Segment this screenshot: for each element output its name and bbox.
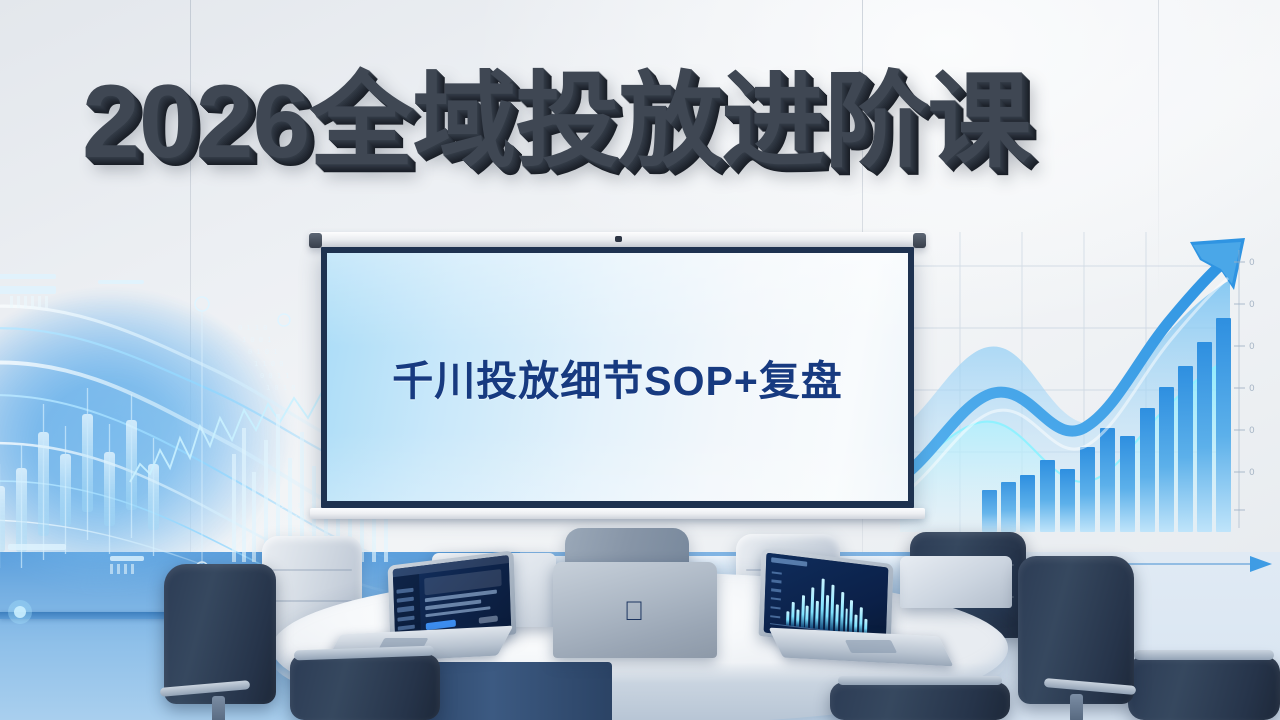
svg-text:1 0 0 1: 1 0 0 1	[242, 336, 272, 344]
svg-text:0: 0	[1249, 468, 1255, 478]
svg-text:0: 0	[1249, 300, 1255, 310]
projector-screen-frame: 千川投放细节SOP+复盘	[321, 247, 914, 508]
chair-far-right-navy	[1010, 556, 1142, 720]
svg-text:0: 0	[1249, 342, 1255, 352]
svg-text:1 0 1: 1 0 1	[280, 502, 301, 510]
svg-text:0 1 0 1: 0 1 0 1	[248, 348, 278, 356]
svg-text:1 0 1 0: 1 0 1 0	[266, 384, 296, 392]
chair-left-front-navy	[290, 644, 450, 720]
laptop-center-macbook[interactable]: 	[553, 562, 717, 670]
svg-text:0 1 1 0: 0 1 1 0	[238, 324, 268, 332]
dashboard-secondary-button[interactable]	[478, 616, 498, 624]
analytics-title-bar	[771, 557, 808, 566]
chair-bottom-center-navy	[830, 676, 1010, 720]
projector-screen-bottom-bar	[310, 508, 925, 519]
svg-text:0: 0	[1249, 384, 1255, 394]
chair-far-left-navy	[160, 564, 284, 720]
screen-mount-dot	[615, 236, 622, 242]
svg-text:0: 0	[1249, 426, 1255, 436]
page-title: 2026全域投放进阶课	[82, 66, 1202, 178]
svg-text:1 1 0: 1 1 0	[292, 526, 313, 534]
svg-text:0: 0	[1249, 258, 1255, 268]
svg-text:1 1 0 0: 1 1 0 0	[254, 360, 284, 368]
svg-text:0 1 0: 0 1 0	[286, 514, 307, 522]
poster-canvas: 0 1 1 01 0 0 1 0 1 0 11 1 0 0 0 0 1 11 0…	[0, 0, 1280, 720]
svg-text:0 0 1 1: 0 0 1 1	[260, 372, 290, 380]
chair-right-rear-navy	[1128, 648, 1280, 720]
projector-screen[interactable]: 千川投放细节SOP+复盘	[313, 232, 922, 522]
laptop-right-analytics[interactable]	[752, 556, 948, 672]
apple-logo: 	[624, 596, 644, 627]
slide-title: 千川投放细节SOP+复盘	[392, 347, 843, 407]
projector-screen-surface: 千川投放细节SOP+复盘	[327, 253, 908, 501]
